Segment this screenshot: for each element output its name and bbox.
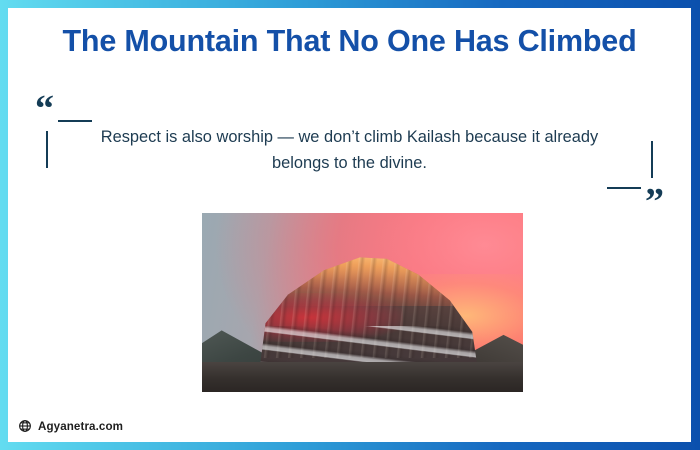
mountain-photo <box>202 213 523 392</box>
globe-icon <box>18 419 32 433</box>
footer-site-label: Agyanetra.com <box>38 420 123 433</box>
page-title: The Mountain That No One Has Climbed <box>8 24 691 59</box>
open-quote-vertical-rule <box>46 131 48 168</box>
slide-frame: The Mountain That No One Has Climbed “ R… <box>0 0 700 450</box>
footer: Agyanetra.com <box>18 419 123 433</box>
quote-text: Respect is also worship — we don’t climb… <box>100 124 599 176</box>
close-quote-icon: ” <box>645 183 664 221</box>
quote-block: “ Respect is also worship — we don’t cli… <box>8 103 691 213</box>
close-quote-vertical-rule <box>651 141 653 178</box>
quote-open-ornament: “ <box>35 103 105 183</box>
slide-card: The Mountain That No One Has Climbed “ R… <box>8 8 691 442</box>
open-quote-horizontal-rule <box>58 120 92 122</box>
valley-foreground <box>202 362 523 392</box>
quote-close-ornament: ” <box>594 125 664 205</box>
close-quote-horizontal-rule <box>607 187 641 189</box>
open-quote-icon: “ <box>35 90 54 128</box>
